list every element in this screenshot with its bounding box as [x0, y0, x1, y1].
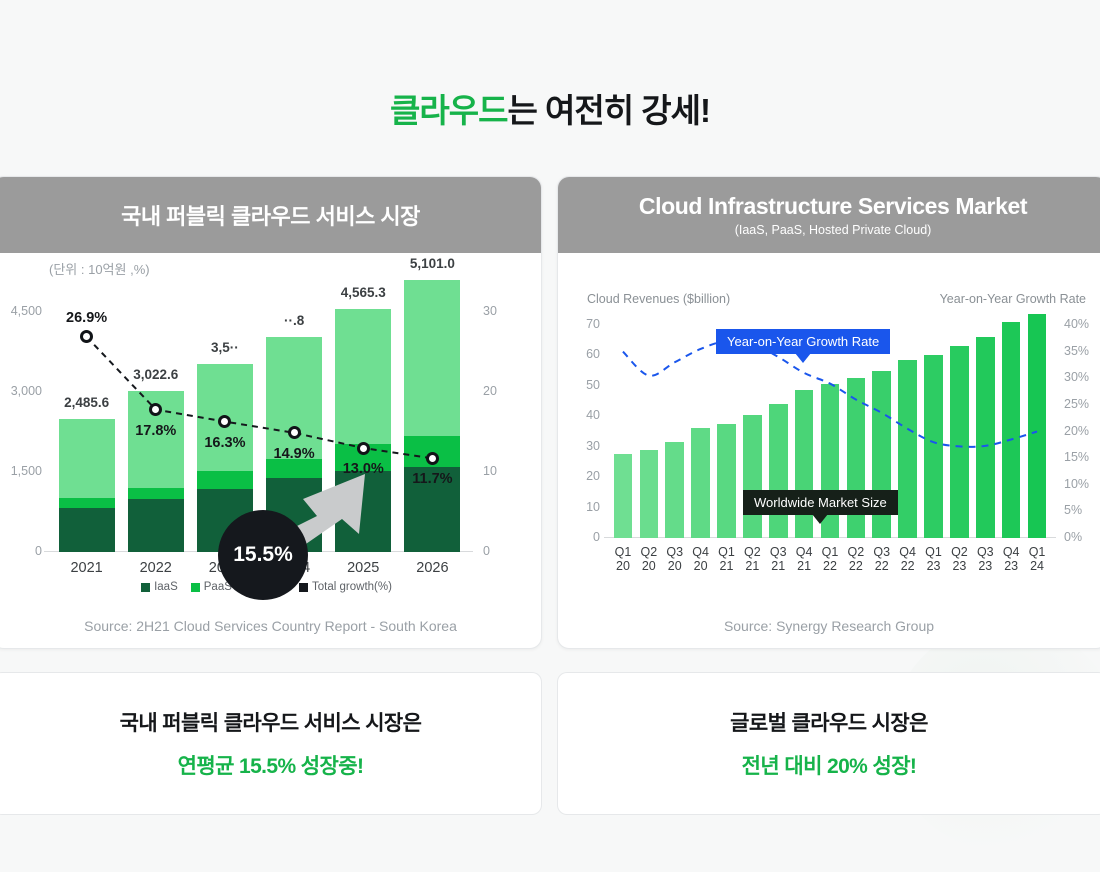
right-chart-left-caption: Cloud Revenues ($billion) [587, 292, 730, 306]
right-chart-y2tick: 5% [1064, 503, 1082, 517]
left-chart-growth-label: 26.9% [42, 310, 132, 326]
tag-growth-rate-nub [795, 353, 811, 363]
summary-card-global-line1: 글로벌 클라우드 시장은 [730, 707, 928, 737]
right-panel-subtitle: (IaaS, PaaS, Hosted Private Cloud) [735, 223, 932, 237]
right-chart-y2tick: 35% [1064, 344, 1089, 358]
right-chart-y2tick: 30% [1064, 370, 1089, 384]
right-panel-title: Cloud Infrastructure Services Market [639, 193, 1027, 220]
right-chart-xtick-year: 24 [1017, 559, 1057, 573]
tag-market-size: Worldwide Market Size [743, 490, 898, 515]
summary-card-domestic-line1: 국내 퍼블릭 클라우드 서비스 시장은 [120, 707, 422, 737]
summary-card-domestic-line2: 연평균 15.5% 성장중! [178, 750, 364, 780]
summary-card-domestic: 국내 퍼블릭 클라우드 서비스 시장은 연평균 15.5% 성장중! [0, 672, 542, 815]
right-chart-y2tick: 0% [1064, 530, 1082, 544]
right-chart-ytick: 50 [568, 378, 600, 392]
right-panel-header: Cloud Infrastructure Services Market (Ia… [558, 177, 1100, 253]
left-unit-note: (단위 : 10억원 ,%) [49, 259, 150, 278]
infographic-page: 클라우드는 여전히 강세! 국내 퍼블릭 클라우드 서비스 시장 (단위 : 1… [0, 0, 1100, 872]
right-chart-xtick: Q124 [1017, 545, 1057, 574]
left-chart-panel: 국내 퍼블릭 클라우드 서비스 시장 (단위 : 10억원 ,%) 01,500… [0, 176, 542, 649]
right-chart-y2tick: 20% [1064, 424, 1089, 438]
legend-swatch-icon [299, 583, 308, 592]
right-chart-ytick: 30 [568, 439, 600, 453]
left-chart-growth-label: 11.7% [387, 471, 477, 487]
page-title: 클라우드는 여전히 강세! [0, 84, 1100, 132]
left-panel-header: 국내 퍼블릭 클라우드 서비스 시장 [0, 177, 541, 253]
left-chart-growth-label: 14.9% [249, 446, 339, 462]
right-chart-ytick: 40 [568, 408, 600, 422]
left-chart-ytick: 0 [0, 544, 42, 558]
right-chart-right-caption: Year-on-Year Growth Rate [940, 292, 1086, 306]
left-chart-growth-marker [426, 452, 439, 465]
tag-market-size-nub [812, 514, 828, 524]
left-chart-y2tick: 0 [483, 544, 490, 558]
left-chart-ytick: 1,500 [0, 464, 42, 478]
left-chart-legend-item[interactable]: IaaS [141, 581, 178, 593]
cagr-badge: 15.5% [218, 510, 308, 600]
left-chart-source: Source: 2H21 Cloud Services Country Repo… [0, 618, 541, 634]
right-chart-y2tick: 25% [1064, 397, 1089, 411]
left-chart-ytick: 4,500 [0, 304, 42, 318]
right-chart-y2tick: 15% [1064, 450, 1089, 464]
page-title-rest: 는 여전히 강세! [507, 92, 710, 129]
right-chart-ytick: 70 [568, 317, 600, 331]
left-chart-legend-label: Total growth(%) [312, 581, 392, 593]
right-chart-xtick-quarter: Q1 [1017, 545, 1057, 559]
right-chart-y2tick: 40% [1064, 317, 1089, 331]
legend-swatch-icon [141, 583, 150, 592]
left-chart-growth-marker [288, 426, 301, 439]
legend-swatch-icon [191, 583, 200, 592]
left-chart-growth-marker [357, 442, 370, 455]
tag-growth-rate-label: Year-on-Year Growth Rate [727, 334, 879, 349]
right-chart-ytick: 10 [568, 500, 600, 514]
right-chart-y2tick: 10% [1064, 477, 1089, 491]
right-chart-ytick: 60 [568, 347, 600, 361]
right-chart-ytick: 20 [568, 469, 600, 483]
summary-card-global-line2: 전년 대비 20% 성장! [742, 750, 917, 780]
left-chart-legend-item[interactable]: Total growth(%) [299, 581, 392, 593]
tag-market-size-label: Worldwide Market Size [754, 495, 887, 510]
left-chart-y2tick: 10 [483, 464, 497, 478]
left-chart-y2tick: 20 [483, 384, 497, 398]
left-chart-xtick: 2026 [387, 560, 477, 576]
right-chart-panel: Cloud Infrastructure Services Market (Ia… [557, 176, 1100, 649]
right-chart-source: Source: Synergy Research Group [558, 618, 1100, 634]
left-panel-title: 국내 퍼블릭 클라우드 서비스 시장 [121, 199, 420, 231]
right-chart-ytick: 0 [568, 530, 600, 544]
left-chart-legend-label: IaaS [154, 581, 178, 593]
left-chart-legend-item[interactable]: PaaS [191, 581, 232, 593]
left-chart-y2tick: 30 [483, 304, 497, 318]
page-title-highlight: 클라우드 [390, 92, 507, 129]
tag-growth-rate: Year-on-Year Growth Rate [716, 329, 890, 354]
left-chart-total-label: 5,101.0 [372, 256, 492, 271]
summary-card-global: 글로벌 클라우드 시장은 전년 대비 20% 성장! [557, 672, 1100, 815]
